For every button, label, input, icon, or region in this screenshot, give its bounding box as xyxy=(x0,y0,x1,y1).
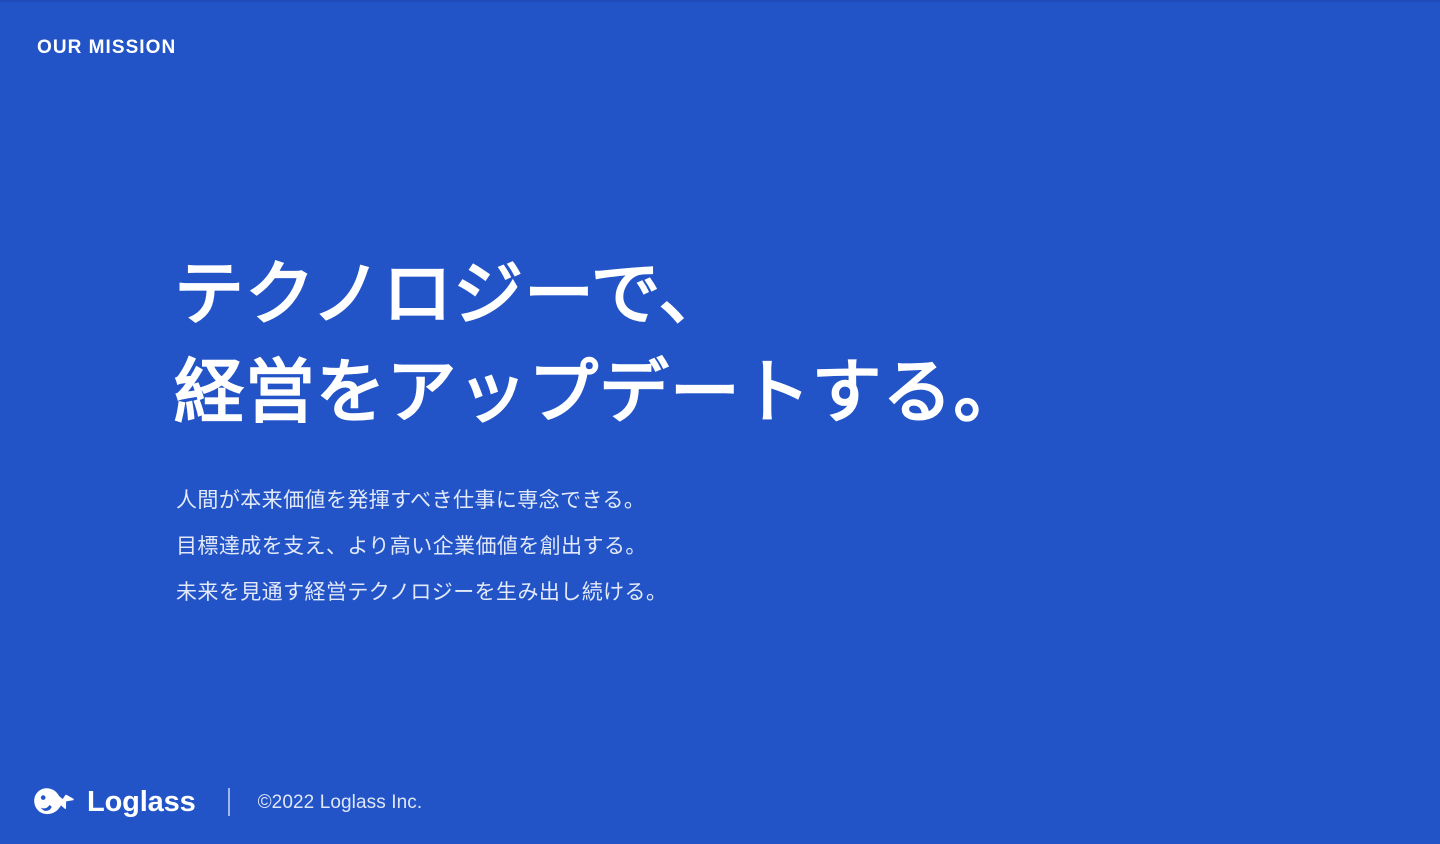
mission-slide: OUR MISSION テクノロジーで、 経営をアップデートする。 人間が本来価… xyxy=(0,0,1440,844)
page-title: テクノロジーで、 経営をアップデートする。 xyxy=(174,245,1024,441)
top-edge-hairline xyxy=(0,0,1440,2)
headline-line-2: 経営をアップデートする。 xyxy=(174,343,1024,441)
whale-logo-icon xyxy=(32,787,78,817)
copyright-text: ©2022 Loglass Inc. xyxy=(258,793,423,812)
brand-lockup: Loglass xyxy=(32,787,196,817)
headline-line-1: テクノロジーで、 xyxy=(174,245,1024,343)
brand-wordmark: Loglass xyxy=(87,788,196,817)
mission-body-text: 人間が本来価値を発揮すべき仕事に専念できる。 目標達成を支え、より高い企業価値を… xyxy=(176,478,667,616)
slide-eyebrow-label: OUR MISSION xyxy=(37,38,176,59)
slide-footer: Loglass ©2022 Loglass Inc. xyxy=(32,782,422,822)
body-line-3: 未来を見通す経営テクノロジーを生み出し続ける。 xyxy=(176,570,667,616)
footer-divider xyxy=(228,788,230,816)
body-line-2: 目標達成を支え、より高い企業価値を創出する。 xyxy=(176,524,667,570)
body-line-1: 人間が本来価値を発揮すべき仕事に専念できる。 xyxy=(176,478,667,524)
